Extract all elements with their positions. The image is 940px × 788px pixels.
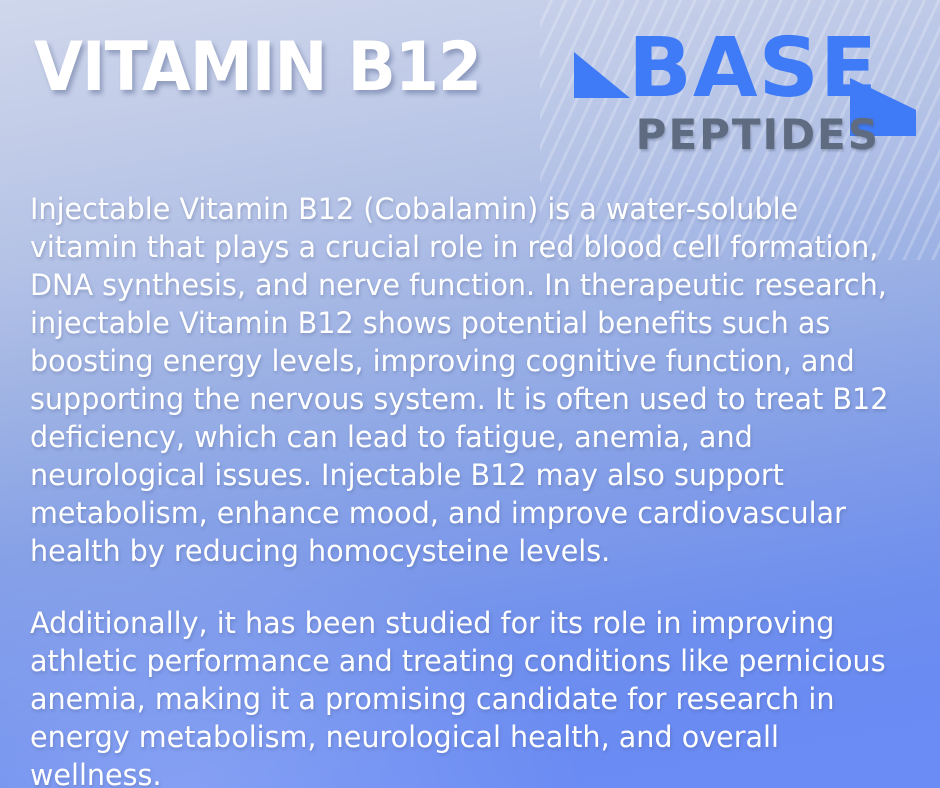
paragraph-1: Injectable Vitamin B12 (Cobalamin) is a …: [30, 190, 893, 570]
body-copy: Injectable Vitamin B12 (Cobalamin) is a …: [30, 190, 893, 788]
brand-logo: BASE PEPTIDES: [556, 22, 916, 182]
page-title: VITAMIN B12: [34, 34, 481, 102]
logo-accent-left-icon: [574, 52, 630, 98]
poster-canvas: VITAMIN B12 BASE PEPTIDES Injectable Vit…: [0, 0, 940, 788]
logo-brand-top: BASE: [628, 28, 878, 110]
logo-brand-bottom: PEPTIDES: [636, 114, 880, 156]
paragraph-2: Additionally, it has been studied for it…: [30, 604, 893, 788]
